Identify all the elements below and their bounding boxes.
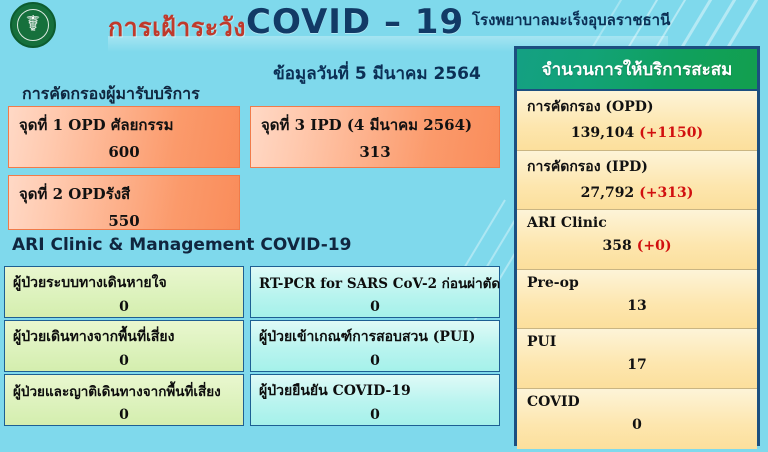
ari-confirmed-covid19: ผู้ป่วยยืนยัน COVID-19 0 [250, 374, 500, 426]
ari-patients-and-relatives-risk-area-label: ผู้ป่วยและญาติเดินทางจากพื้นที่เสี่ยง [13, 380, 235, 402]
dashboard-page: ☤ การเฝ้าระวัง COVID – 19 โรงพยาบาลมะเร็… [0, 0, 768, 452]
screening-point-1-value: 600 [19, 143, 229, 161]
ari-confirmed-covid19-value: 0 [259, 407, 491, 423]
hospital-name: โรงพยาบาลมะเร็งอุบลราชธานี [472, 8, 670, 32]
ari-pui-value: 0 [259, 353, 491, 369]
cumulative-row-ipd-valueline: 27,792(+313) [527, 185, 747, 201]
cumulative-row-pui-label: PUI [527, 334, 747, 350]
page-header: ☤ การเฝ้าระวัง COVID – 19 โรงพยาบาลมะเร็… [0, 0, 768, 52]
screening-point-1-opd-surgery: จุดที่ 1 OPD ศัลยกรรม 600 [8, 106, 240, 168]
cumulative-row-pui: PUI 17 [517, 329, 757, 389]
cumulative-row-ipd-delta: (+313) [639, 185, 693, 201]
ari-risk-area-travel-patients: ผู้ป่วยเดินทางจากพื้นที่เสี่ยง 0 [4, 320, 244, 372]
cumulative-panel-heading-text: จำนวนการให้บริการสะสม [542, 56, 733, 83]
cumulative-row-opd-value: 139,104 [571, 125, 634, 141]
ari-respiratory-patients-value: 0 [13, 299, 235, 315]
cumulative-row-opd-valueline: 139,104(+1150) [527, 125, 747, 141]
cumulative-panel-heading: จำนวนการให้บริการสะสม [517, 49, 757, 91]
ari-respiratory-patients: ผู้ป่วยระบบทางเดินหายใจ 0 [4, 266, 244, 318]
screening-point-3-value: 313 [261, 143, 489, 161]
cumulative-row-preop: Pre-op 13 [517, 270, 757, 330]
ari-section-heading: ARI Clinic & Management COVID-19 [12, 235, 351, 255]
ari-rtpcr-preop: RT-PCR for SARS CoV-2 ก่อนผ่าตัด 0 [250, 266, 500, 318]
cumulative-service-panel: จำนวนการให้บริการสะสม การคัดกรอง (OPD) 1… [514, 46, 760, 446]
screening-point-2-opd-radiology: จุดที่ 2 OPDรังสี 550 [8, 175, 240, 230]
cumulative-row-covid-valueline: 0 [527, 417, 747, 433]
cumulative-row-ari-clinic-valueline: 358(+0) [527, 238, 747, 254]
ari-patients-and-relatives-risk-area-value: 0 [13, 407, 235, 423]
cumulative-row-ari-clinic-label: ARI Clinic [527, 215, 747, 231]
ari-risk-area-travel-patients-label: ผู้ป่วยเดินทางจากพื้นที่เสี่ยง [13, 326, 235, 348]
cumulative-row-pui-valueline: 17 [527, 357, 747, 373]
ari-risk-area-travel-patients-value: 0 [13, 353, 235, 369]
ari-respiratory-patients-label: ผู้ป่วยระบบทางเดินหายใจ [13, 272, 235, 294]
cumulative-row-ipd-label: การคัดกรอง (IPD) [527, 156, 747, 178]
ministry-of-public-health-seal-icon: ☤ [10, 2, 62, 50]
cumulative-row-covid-value: 0 [632, 417, 642, 433]
ari-confirmed-covid19-label: ผู้ป่วยยืนยัน COVID-19 [259, 380, 491, 402]
screening-point-3-ipd: จุดที่ 3 IPD (4 มีนาคม 2564) 313 [250, 106, 500, 168]
cumulative-row-ari-clinic-value: 358 [603, 238, 632, 254]
cumulative-row-covid-label: COVID [527, 394, 747, 410]
screening-point-2-label: จุดที่ 2 OPDรังสี [19, 182, 229, 206]
cumulative-row-ari-clinic: ARI Clinic 358(+0) [517, 210, 757, 270]
ari-pui-label: ผู้ป่วยเข้าเกณฑ์การสอบสวน (PUI) [259, 326, 491, 348]
data-date-label: ข้อมูลวันที่ 5 มีนาคม 2564 [252, 60, 502, 87]
cumulative-row-covid: COVID 0 [517, 389, 757, 449]
ari-patients-and-relatives-risk-area: ผู้ป่วยและญาติเดินทางจากพื้นที่เสี่ยง 0 [4, 374, 244, 426]
page-title-english: COVID – 19 [246, 2, 464, 42]
screening-section-heading: การคัดกรองผู้มารับบริการ [22, 82, 200, 107]
screening-point-1-label: จุดที่ 1 OPD ศัลยกรรม [19, 113, 229, 137]
cumulative-row-ari-clinic-delta: (+0) [637, 238, 672, 254]
page-title-thai: การเฝ้าระวัง [108, 8, 246, 48]
cumulative-row-pui-value: 17 [627, 357, 646, 373]
cumulative-row-preop-label: Pre-op [527, 275, 747, 291]
ari-rtpcr-preop-label: RT-PCR for SARS CoV-2 ก่อนผ่าตัด [259, 272, 491, 294]
cumulative-row-opd-label: การคัดกรอง (OPD) [527, 96, 747, 118]
cumulative-row-opd-delta: (+1150) [639, 125, 703, 141]
cumulative-row-opd: การคัดกรอง (OPD) 139,104(+1150) [517, 91, 757, 151]
cumulative-row-ipd-value: 27,792 [581, 185, 635, 201]
cumulative-row-ipd: การคัดกรอง (IPD) 27,792(+313) [517, 151, 757, 211]
ari-pui: ผู้ป่วยเข้าเกณฑ์การสอบสวน (PUI) 0 [250, 320, 500, 372]
screening-point-3-label: จุดที่ 3 IPD (4 มีนาคม 2564) [261, 113, 489, 137]
cumulative-row-preop-value: 13 [627, 298, 646, 314]
cumulative-row-preop-valueline: 13 [527, 298, 747, 314]
ari-rtpcr-preop-value: 0 [259, 299, 491, 315]
screening-point-2-value: 550 [19, 212, 229, 230]
